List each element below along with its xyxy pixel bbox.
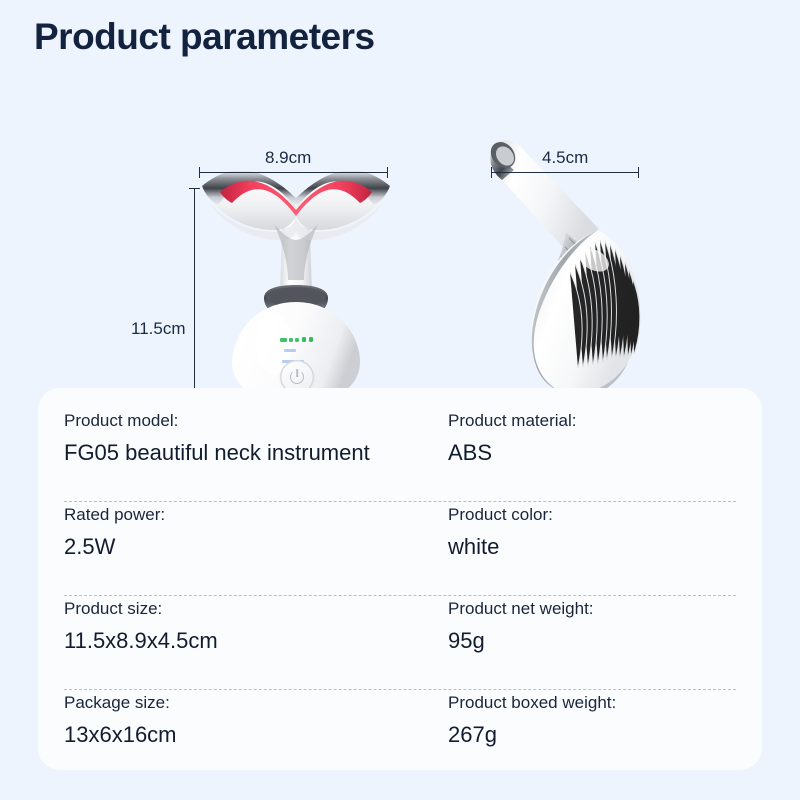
spec-row: Product model: FG05 beautiful neck instr… — [64, 408, 736, 502]
spec-label: Product material: — [448, 412, 736, 431]
spec-label: Product boxed weight: — [448, 694, 736, 713]
spec-label: Package size: — [64, 694, 448, 713]
spec-value: white — [448, 534, 736, 559]
spec-value: 11.5x8.9x4.5cm — [64, 628, 448, 653]
spec-label: Product model: — [64, 412, 448, 431]
spec-value: 267g — [448, 722, 736, 747]
dimension-label-depth: 4.5cm — [542, 148, 588, 168]
dimension-label-height: 11.5cm — [131, 319, 186, 339]
spec-cell-product-color: Product color: white — [448, 506, 736, 595]
spec-row: Package size: 13x6x16cm Product boxed we… — [64, 690, 736, 784]
spec-cell-product-material: Product material: ABS — [448, 412, 736, 501]
spec-cell-product-net-weight: Product net weight: 95g — [448, 600, 736, 689]
dimension-line-width — [199, 172, 388, 173]
spec-row: Rated power: 2.5W Product color: white — [64, 502, 736, 596]
spec-value: FG05 beautiful neck instrument — [64, 440, 448, 465]
spec-cell-product-model: Product model: FG05 beautiful neck instr… — [64, 412, 448, 501]
spec-label: Product net weight: — [448, 600, 736, 619]
page-title: Product parameters — [34, 17, 375, 58]
spec-label: Rated power: — [64, 506, 448, 525]
product-illustration-stage: 8.9cm 11.5cm 4.5cm — [0, 70, 800, 380]
spec-cell-package-size: Package size: 13x6x16cm — [64, 694, 448, 784]
spec-label: Product size: — [64, 600, 448, 619]
spec-row: Product size: 11.5x8.9x4.5cm Product net… — [64, 596, 736, 690]
spec-cell-product-boxed-weight: Product boxed weight: 267g — [448, 694, 736, 784]
spec-cell-product-size: Product size: 11.5x8.9x4.5cm — [64, 600, 448, 689]
spec-label: Product color: — [448, 506, 736, 525]
spec-value: ABS — [448, 440, 736, 465]
spec-value: 2.5W — [64, 534, 448, 559]
specifications-card: Product model: FG05 beautiful neck instr… — [38, 388, 762, 770]
spec-cell-rated-power: Rated power: 2.5W — [64, 506, 448, 595]
dimension-label-width: 8.9cm — [265, 148, 311, 168]
spec-value: 13x6x16cm — [64, 722, 448, 747]
dimension-line-depth — [491, 172, 639, 173]
spec-value: 95g — [448, 628, 736, 653]
